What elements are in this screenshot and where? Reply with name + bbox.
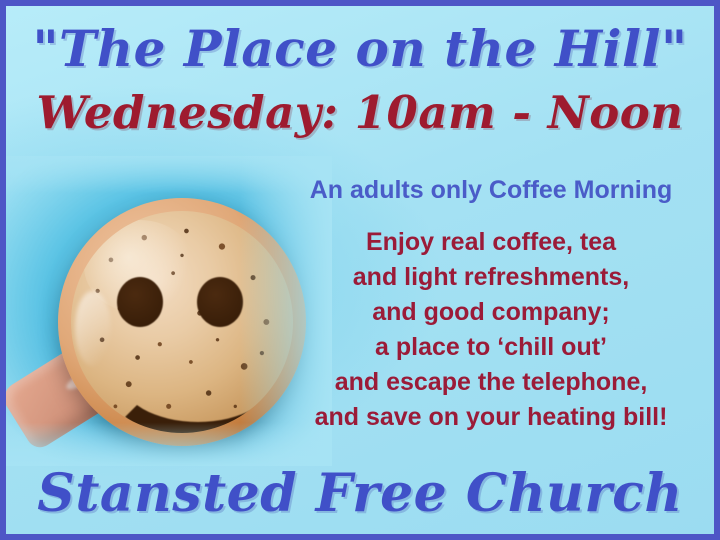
body-copy: Enjoy real coffee, tea and light refresh…	[261, 225, 720, 435]
body-line: and escape the telephone,	[261, 365, 720, 400]
body-line: a place to ‘chill out’	[261, 330, 720, 365]
body-line: and save on your heating bill!	[261, 400, 720, 435]
body-line: Enjoy real coffee, tea	[261, 225, 720, 260]
body-line: and light refreshments,	[261, 260, 720, 295]
event-tagline: An adults only Coffee Morning	[261, 176, 720, 205]
page-title: "The Place on the Hill"	[6, 24, 714, 74]
schedule-subtitle: Wednesday: 10am - Noon	[6, 90, 714, 135]
organisation-name: Stansted Free Church	[6, 468, 714, 520]
body-line: and good company;	[261, 295, 720, 330]
coffee-morning-poster: "The Place on the Hill" Wednesday: 10am …	[0, 0, 720, 540]
poster-text-layer: "The Place on the Hill" Wednesday: 10am …	[6, 6, 714, 534]
